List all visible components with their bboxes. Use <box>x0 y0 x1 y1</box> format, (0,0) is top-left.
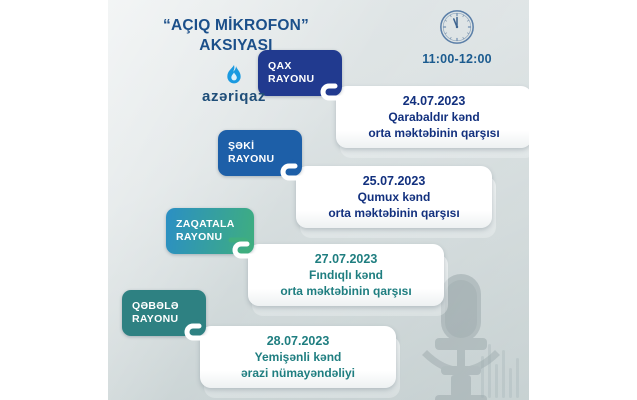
event-date: 25.07.2023 <box>306 173 482 189</box>
event-place-line-2: orta məktəbinin qarşısı <box>258 284 434 300</box>
chain-link-icon <box>273 158 307 182</box>
event-date: 24.07.2023 <box>346 93 522 109</box>
event-card: 24.07.2023 Qarabaldır kənd orta məktəbin… <box>336 86 529 148</box>
event-place-line-2: orta məktəbinin qarşısı <box>346 126 522 142</box>
event-card: 27.07.2023 Fındıqlı kənd orta məktəbinin… <box>248 244 444 306</box>
campaign-poster: “AÇIQ MİKROFON” AKSIYASI azəriqaz <box>108 0 529 400</box>
event-place-line-1: Fındıqlı kənd <box>258 268 434 284</box>
event-card: 28.07.2023 Yemişənli kənd ərazi nümayənd… <box>200 326 396 388</box>
waveform-decor-icon <box>479 338 525 398</box>
region-name-line-1: QƏBƏLƏ <box>132 300 197 313</box>
page-title-line-2: AKSIYASI <box>116 36 356 56</box>
event-date: 27.07.2023 <box>258 251 434 267</box>
event-place-line-1: Qumux kənd <box>306 190 482 206</box>
event-card: 25.07.2023 Qumux kənd orta məktəbinin qa… <box>296 166 492 228</box>
event-place-line-1: Yemişənli kənd <box>210 350 386 366</box>
event-place-line-1: Qarabaldır kənd <box>346 110 522 126</box>
brand-name: azəriqaz <box>144 88 324 105</box>
region-name-line-1: ZAQATALA <box>176 218 245 231</box>
time-range-label: 11:00-12:00 <box>402 52 512 66</box>
page-title: “AÇIQ MİKROFON” AKSIYASI <box>116 16 356 57</box>
chain-link-icon <box>225 236 259 260</box>
region-name-line-1: ŞƏKİ <box>228 140 293 153</box>
clock-icon <box>438 8 476 46</box>
page-title-line-1: “AÇIQ MİKROFON” <box>116 16 356 36</box>
screenshot-root: “AÇIQ MİKROFON” AKSIYASI azəriqaz <box>0 0 637 400</box>
flame-icon <box>224 64 244 86</box>
chain-link-icon <box>177 318 211 342</box>
time-block: 11:00-12:00 <box>402 8 512 66</box>
event-place-line-2: orta məktəbinin qarşısı <box>306 206 482 222</box>
event-place-line-2: ərazi nümayəndəliyi <box>210 366 386 382</box>
brand-logo: azəriqaz <box>144 64 324 105</box>
event-date: 28.07.2023 <box>210 333 386 349</box>
